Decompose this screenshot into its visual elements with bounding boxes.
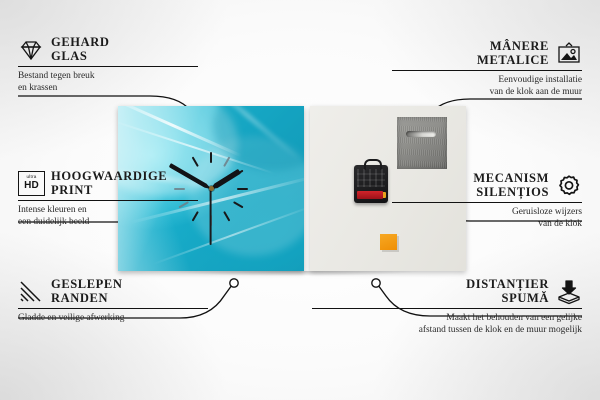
aa-battery (357, 191, 383, 199)
diamond-icon (18, 37, 44, 63)
feature-title: MECANISM SILENȚIOS (473, 172, 549, 199)
picture-hanger-icon (556, 41, 582, 67)
feature-subtitle: Gladde en veilige afwerking (18, 313, 208, 325)
feature-rule (18, 200, 198, 201)
beveled-edge-icon (18, 279, 44, 305)
foam-spacer-pad (380, 234, 397, 250)
gear-icon (556, 173, 582, 199)
feature-subtitle: Intense kleuren en een duidelijk beeld (18, 205, 198, 228)
feature-title: DISTANȚIER SPUMĂ (466, 278, 549, 305)
feature-title: GESLEPEN RANDEN (51, 278, 123, 305)
badge-hd-text: HD (24, 181, 39, 191)
hanger-keyhole-slot (406, 131, 436, 137)
feature-metal-handles: MÂNERE METALICE Eenvoudige installatie v… (392, 40, 582, 98)
metal-hanger-plate (397, 117, 447, 169)
clock-mechanism (354, 165, 388, 203)
feature-silent-mechanism: MECANISM SILENȚIOS Geruisloze wijzers va… (392, 172, 582, 230)
feature-subtitle: Eenvoudige installatie van de klok aan d… (392, 75, 582, 98)
feature-foam-spacer: DISTANȚIER SPUMĂ Maakt het behouden van … (312, 278, 582, 336)
feature-tempered-glass: GEHARD GLAS Bestand tegen breuk en krass… (18, 36, 198, 94)
feature-rule (312, 308, 582, 309)
feature-rule (392, 70, 582, 71)
feature-rule (18, 66, 198, 67)
feature-title: GEHARD GLAS (51, 36, 109, 63)
feature-subtitle: Geruisloze wijzers van de klok (392, 207, 582, 230)
mechanism-texture (357, 169, 385, 187)
feature-title: MÂNERE METALICE (477, 40, 549, 67)
feature-subtitle: Bestand tegen breuk en krassen (18, 71, 198, 94)
ultra-hd-badge-icon: ultra HD (18, 171, 44, 197)
feature-rule (18, 308, 208, 309)
feature-title: HOOGWAARDIGE PRINT (51, 170, 167, 197)
feature-hd-print: ultra HD HOOGWAARDIGE PRINT Intense kleu… (18, 170, 198, 228)
down-arrow-pad-icon (556, 279, 582, 305)
infographic-canvas: GEHARD GLAS Bestand tegen breuk en krass… (0, 0, 600, 400)
feature-ground-edges: GESLEPEN RANDEN Gladde en veilige afwerk… (18, 278, 208, 325)
feature-subtitle: Maakt het behouden van een gelijke afsta… (312, 313, 582, 336)
battery-terminal (383, 192, 386, 198)
feature-rule (392, 202, 582, 203)
clock-center-pin (209, 186, 214, 191)
clock-second-hand (210, 189, 212, 245)
